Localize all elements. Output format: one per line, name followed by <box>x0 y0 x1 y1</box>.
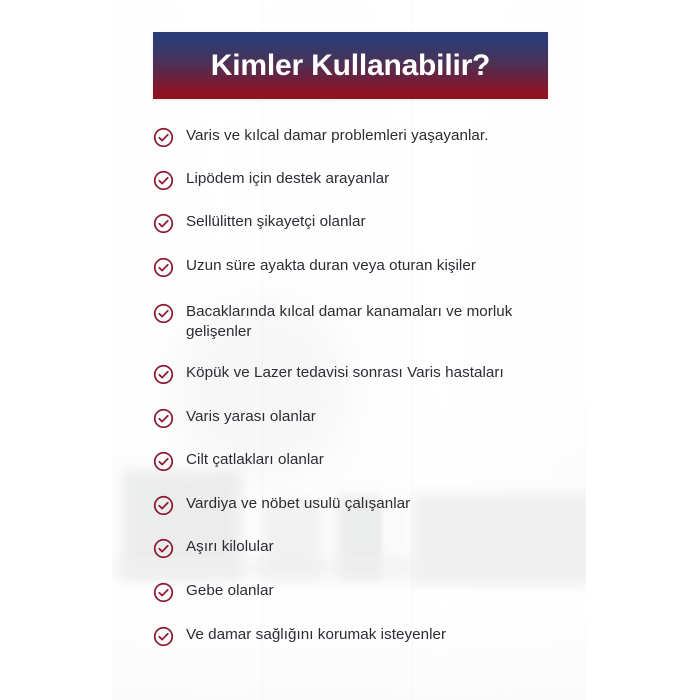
list-item: Lipödem için destek arayanlar <box>153 169 573 191</box>
check-circle-icon <box>153 213 174 234</box>
check-circle-icon <box>153 538 174 559</box>
list-item: Ve damar sağlığını korumak isteyenler <box>153 625 573 647</box>
check-circle-icon <box>153 495 174 516</box>
list-item: Bacaklarında kılcal damar kanamaları ve … <box>153 302 573 342</box>
list-item: Varis yarası olanlar <box>153 407 573 429</box>
check-circle-icon <box>153 257 174 278</box>
list-item: Sellülitten şikayetçi olanlar <box>153 212 573 234</box>
check-circle-icon <box>153 303 174 324</box>
list-item-label: Gebe olanlar <box>186 581 274 601</box>
list-item-label: Sellülitten şikayetçi olanlar <box>186 212 366 232</box>
list-item: Varis ve kılcal damar problemleri yaşaya… <box>153 126 573 148</box>
list-item-label: Aşırı kilolular <box>186 537 274 557</box>
list-item: Vardiya ve nöbet usulü çalışanlar <box>153 494 573 516</box>
check-circle-icon <box>153 127 174 148</box>
page-title: Kimler Kullanabilir? <box>211 51 490 81</box>
check-circle-icon <box>153 626 174 647</box>
check-circle-icon <box>153 364 174 385</box>
list-item-label: Vardiya ve nöbet usulü çalışanlar <box>186 494 410 514</box>
background-blob <box>112 560 586 576</box>
list-item-label: Lipödem için destek arayanlar <box>186 169 389 189</box>
list-item: Gebe olanlar <box>153 581 573 603</box>
list-item: Köpük ve Lazer tedavisi sonrası Varis ha… <box>153 363 573 385</box>
list-item: Aşırı kilolular <box>153 537 573 559</box>
list-item: Uzun süre ayakta duran veya oturan kişil… <box>153 256 573 278</box>
content-panel: Kimler Kullanabilir? Varis ve kılcal dam… <box>112 0 586 700</box>
list-item-label: Uzun süre ayakta duran veya oturan kişil… <box>186 256 476 276</box>
check-circle-icon <box>153 408 174 429</box>
list-item-label: Köpük ve Lazer tedavisi sonrası Varis ha… <box>186 363 504 383</box>
list-item-label: Cilt çatlakları olanlar <box>186 450 324 470</box>
list-item-label: Varis ve kılcal damar problemleri yaşaya… <box>186 126 488 146</box>
check-circle-icon <box>153 451 174 472</box>
header-banner: Kimler Kullanabilir? <box>153 32 548 99</box>
list-item-label: Varis yarası olanlar <box>186 407 316 427</box>
list-item: Cilt çatlakları olanlar <box>153 450 573 472</box>
list-item-label: Ve damar sağlığını korumak isteyenler <box>186 625 446 645</box>
list-item-label: Bacaklarında kılcal damar kanamaları ve … <box>186 302 556 342</box>
infographic-root: Kimler Kullanabilir? Varis ve kılcal dam… <box>0 0 700 700</box>
check-circle-icon <box>153 170 174 191</box>
check-circle-icon <box>153 582 174 603</box>
